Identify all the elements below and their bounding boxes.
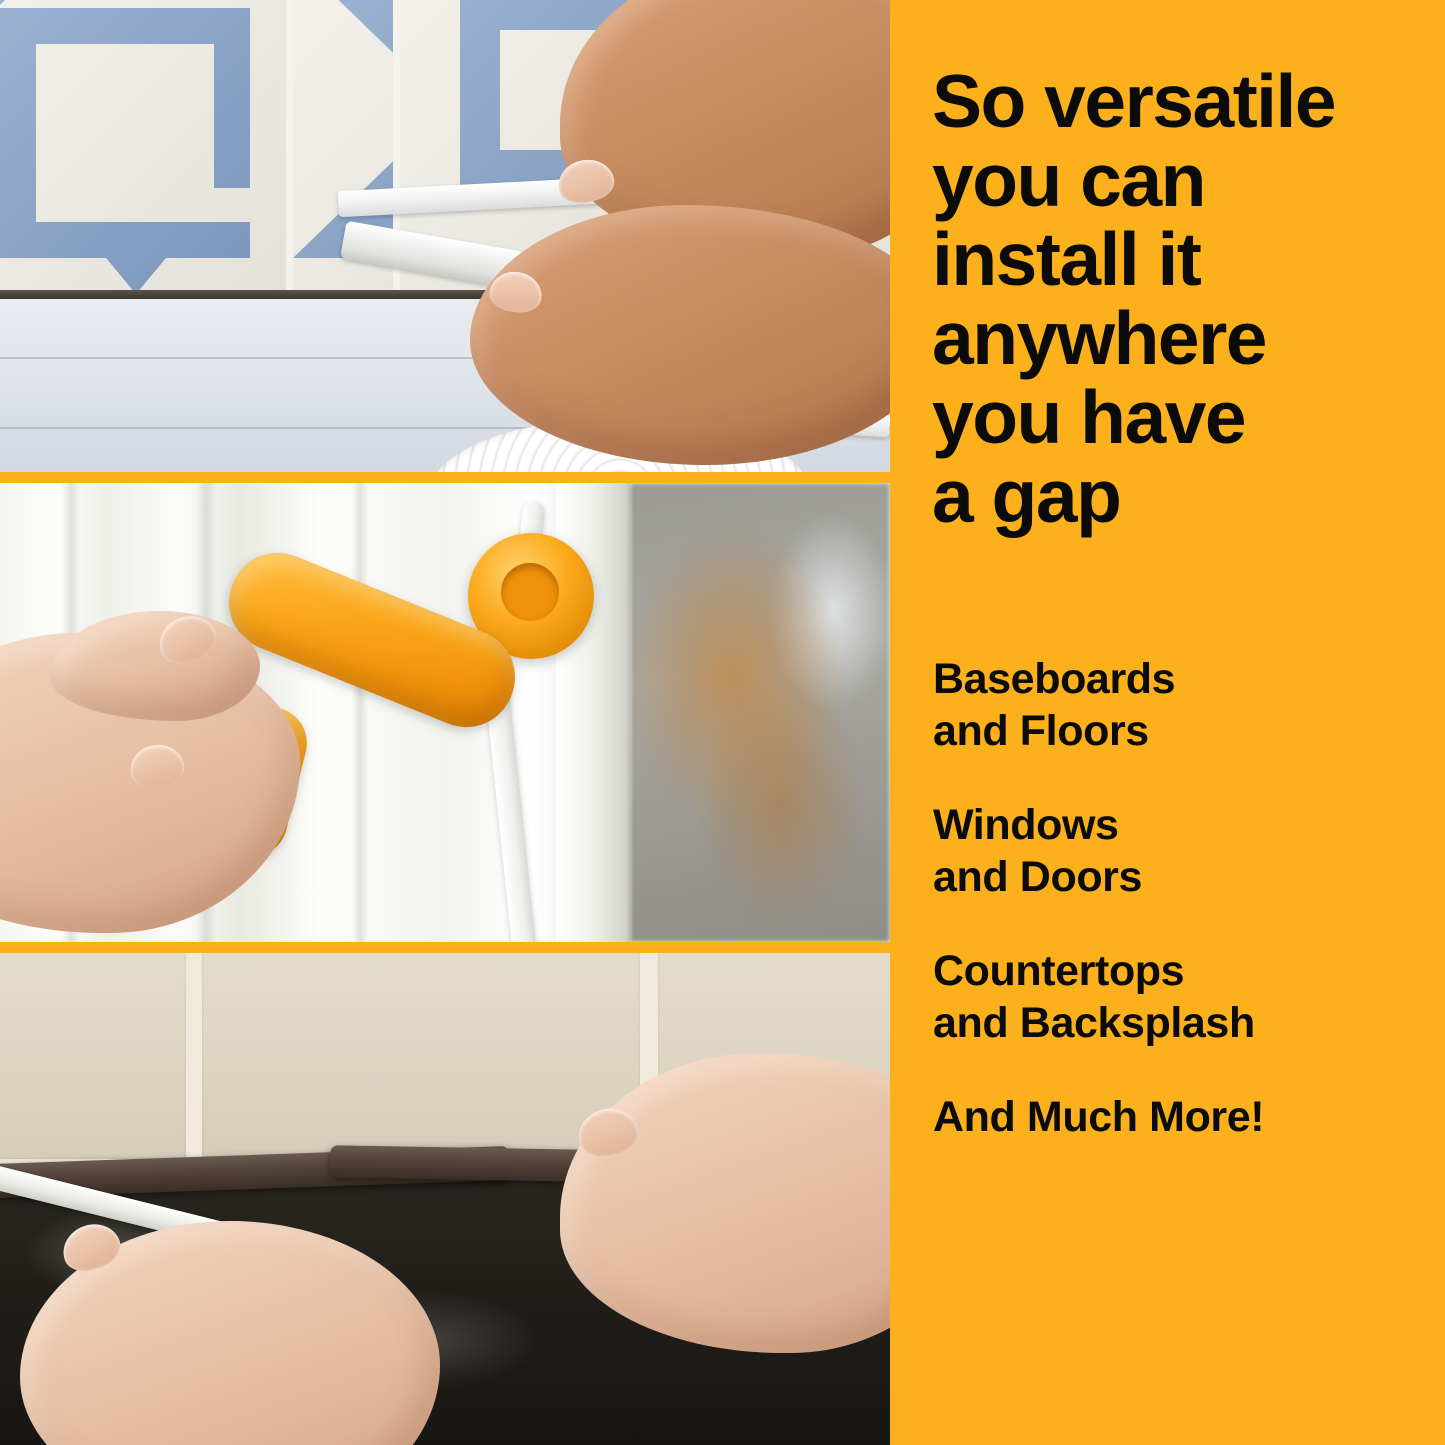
grout-line <box>286 0 293 310</box>
trim-groove <box>352 483 368 942</box>
benefit-item-and-much-more: And Much More! <box>933 1091 1433 1143</box>
headline-line-1: So versatile <box>932 62 1432 141</box>
benefit-item-baseboards-and-floors: Baseboards and Floors <box>933 653 1433 757</box>
stone-grout-line <box>186 953 202 1169</box>
headline-line-5: you have <box>932 378 1432 457</box>
photo-baseboard-tile <box>0 0 890 472</box>
tile-pattern <box>0 0 290 300</box>
benefit-line: Windows <box>933 799 1433 851</box>
blurred-window-glass <box>630 483 890 942</box>
photo-window-door-trim <box>0 483 890 942</box>
benefit-item-countertops-and-backsplash: Countertops and Backsplash <box>933 945 1433 1049</box>
headline-line-2: you can <box>932 141 1432 220</box>
benefit-line: And Much More! <box>933 1091 1433 1143</box>
product-feature-poster: So versatile you can install it anywhere… <box>0 0 1445 1445</box>
headline: So versatile you can install it anywhere… <box>932 62 1432 536</box>
headline-line-4: anywhere <box>932 299 1432 378</box>
benefit-line: Countertops <box>933 945 1433 997</box>
photo-countertop-backsplash <box>0 953 890 1445</box>
benefit-list: Baseboards and Floors Windows and Doors … <box>933 653 1433 1185</box>
panel-divider <box>0 472 890 483</box>
benefit-line: Baseboards <box>933 653 1433 705</box>
photo-column <box>0 0 890 1445</box>
panel-divider <box>0 942 890 953</box>
headline-line-6: a gap <box>932 457 1432 536</box>
benefit-line: and Floors <box>933 705 1433 757</box>
text-column: So versatile you can install it anywhere… <box>890 0 1445 1445</box>
headline-line-3: install it <box>932 220 1432 299</box>
benefit-line: and Backsplash <box>933 997 1433 1049</box>
benefit-line: and Doors <box>933 851 1433 903</box>
benefit-item-windows-and-doors: Windows and Doors <box>933 799 1433 903</box>
